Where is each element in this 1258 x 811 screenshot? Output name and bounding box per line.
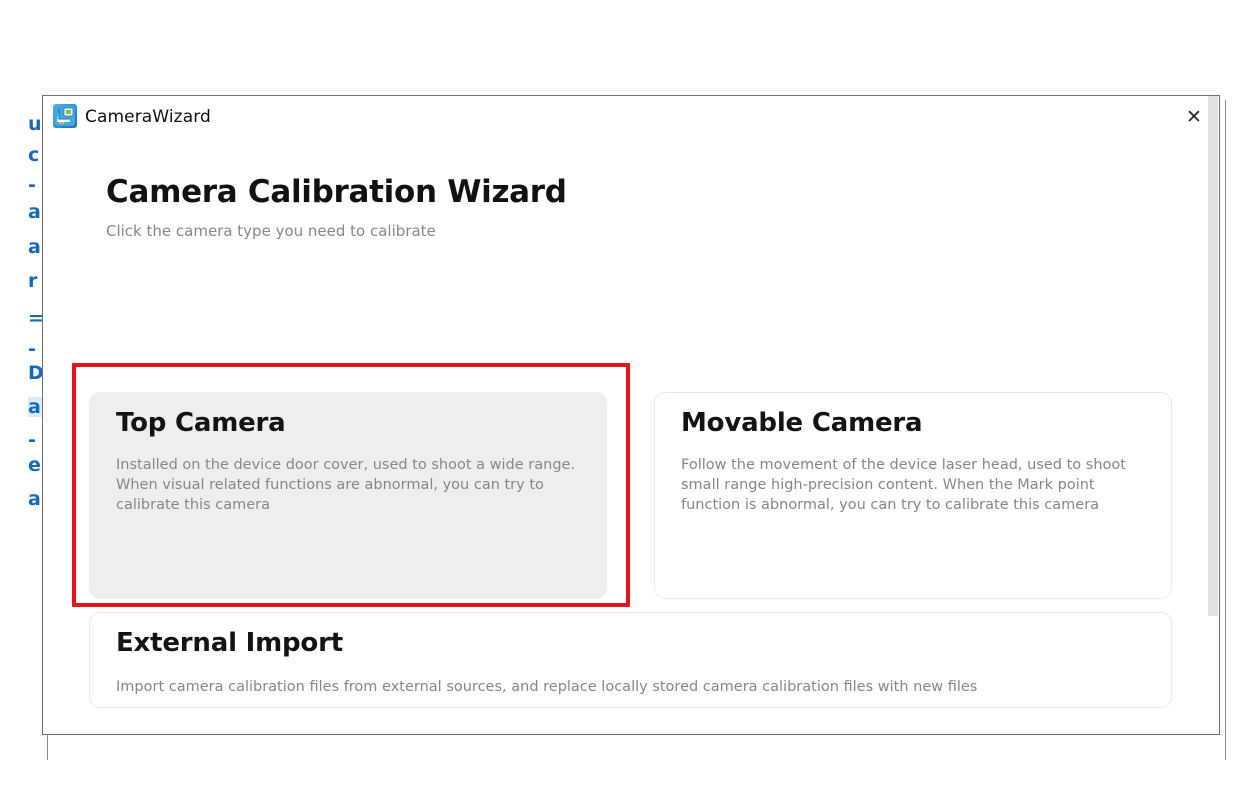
card-top-camera-description: Installed on the device door cover, used… [116, 455, 582, 515]
card-movable-camera-title: Movable Camera [681, 408, 922, 438]
card-external-import[interactable]: External Import Import camera calibratio… [89, 612, 1172, 708]
card-movable-camera-description: Follow the movement of the device laser … [681, 455, 1145, 515]
card-movable-camera[interactable]: Movable Camera Follow the movement of th… [654, 392, 1172, 599]
vertical-scrollbar[interactable] [1207, 96, 1219, 735]
camera-wizard-dialog: CameraWizard ✕ Camera Calibration Wizard… [42, 95, 1220, 735]
page-subtitle: Click the camera type you need to calibr… [106, 222, 436, 240]
card-top-camera[interactable]: Top Camera Installed on the device door … [89, 392, 607, 599]
page-title: Camera Calibration Wizard [106, 174, 567, 210]
screen: u c - a a r = - D a - e a Exposure Autom… [0, 0, 1258, 811]
camera-wizard-app-icon [53, 104, 77, 128]
card-top-camera-title: Top Camera [116, 408, 286, 438]
dialog-title: CameraWizard [85, 107, 211, 127]
close-icon[interactable]: ✕ [1177, 102, 1211, 132]
vertical-scrollbar-thumb[interactable] [1208, 96, 1218, 616]
card-external-import-description: Import camera calibration files from ext… [116, 677, 1136, 697]
dialog-titlebar: CameraWizard ✕ [43, 96, 1219, 140]
card-external-import-title: External Import [116, 628, 343, 658]
background-right-divider [1225, 100, 1226, 760]
